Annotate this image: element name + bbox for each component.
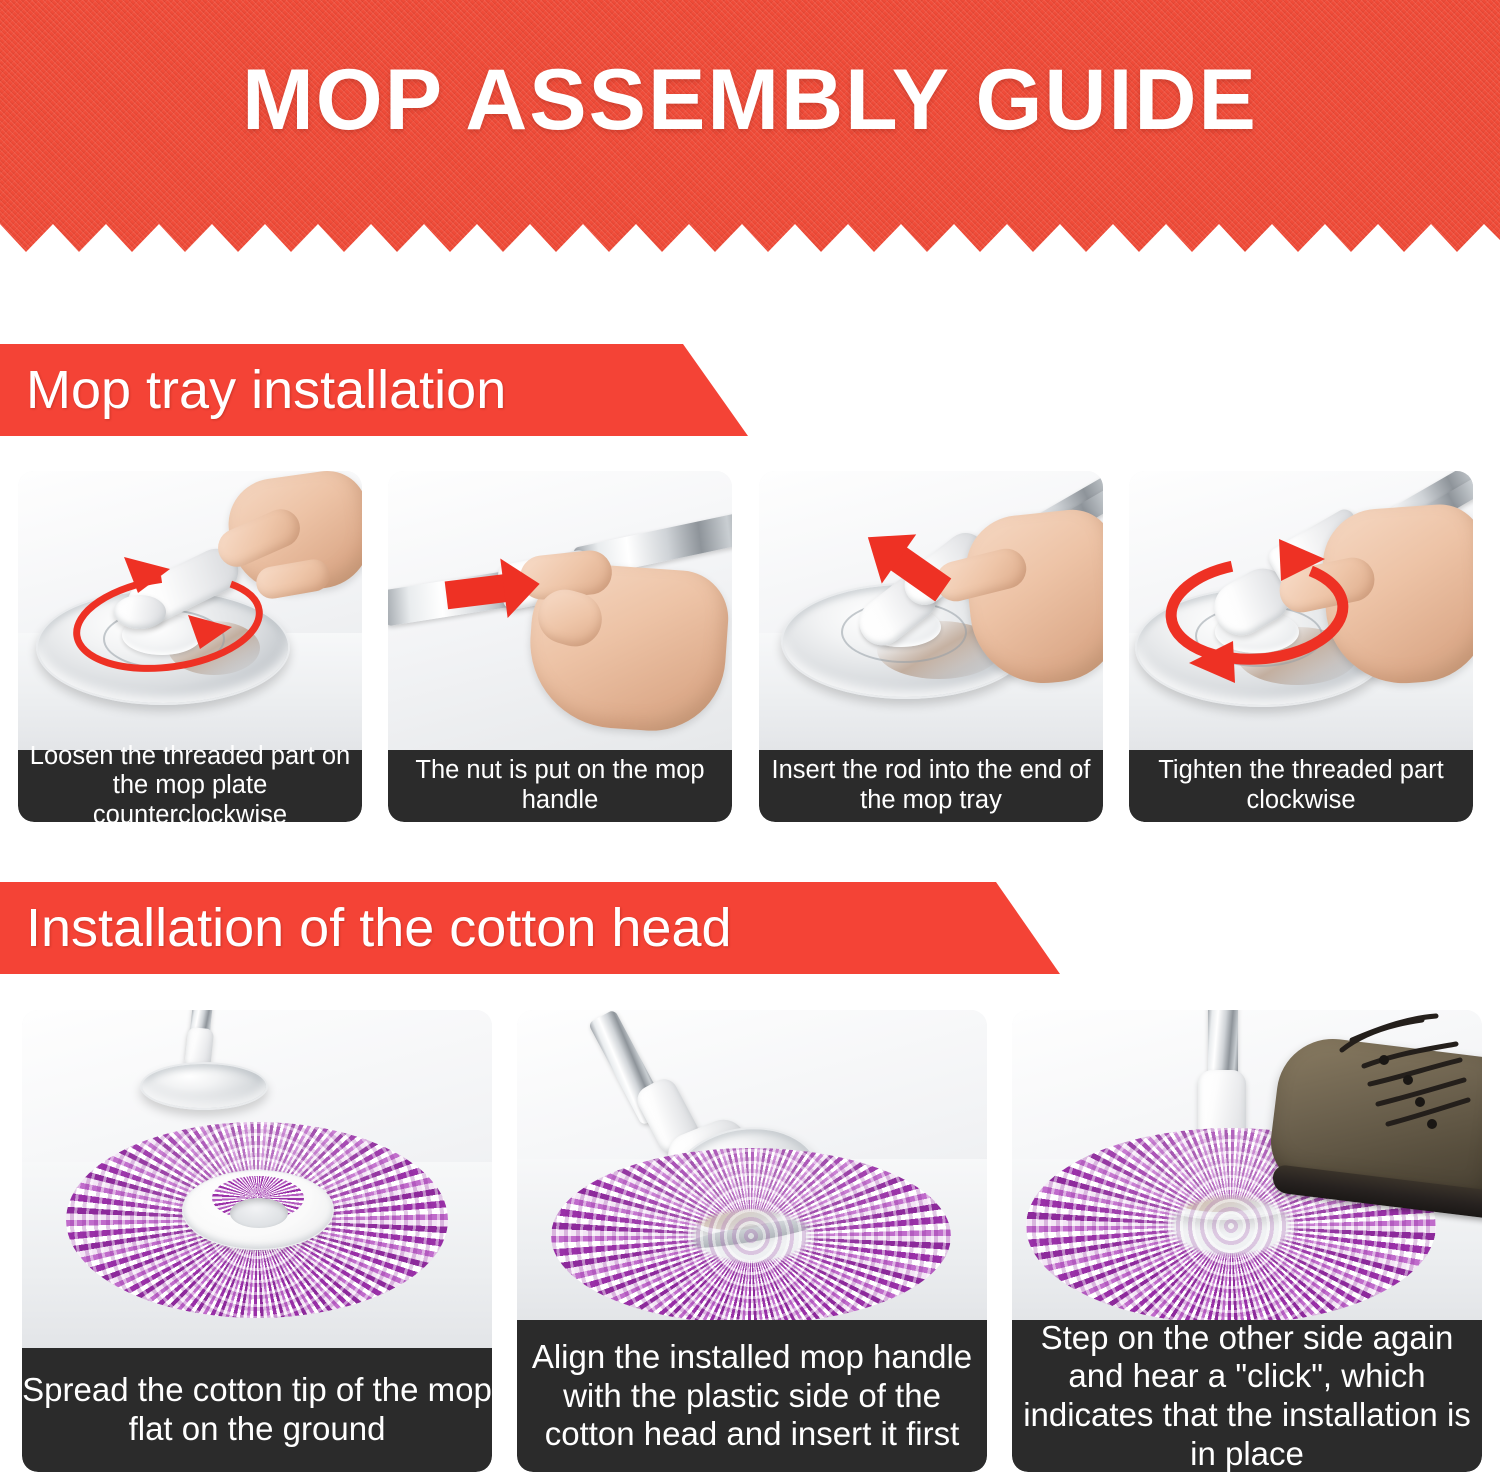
step-caption-7: Step on the other side again and hear a … xyxy=(1012,1320,1482,1472)
step-photo-6 xyxy=(517,1010,987,1320)
step-panel-2[interactable]: The nut is put on the mop handle xyxy=(388,471,732,822)
step-photo-2 xyxy=(388,471,732,750)
section-header-cotton-head-installation: Installation of the cotton head xyxy=(0,882,1062,974)
step-photo-3 xyxy=(759,471,1103,750)
section-title-1: Mop tray installation xyxy=(0,363,506,417)
header-banner: MOP ASSEMBLY GUIDE xyxy=(0,0,1500,252)
step-caption-6: Align the installed mop handle with the … xyxy=(517,1320,987,1472)
cotton-mop-head xyxy=(66,1122,448,1318)
page-title: MOP ASSEMBLY GUIDE xyxy=(0,0,1500,200)
step-caption-1: Loosen the threaded part on the mop plat… xyxy=(18,750,362,822)
rotation-arrow-clockwise-icon xyxy=(1129,471,1473,750)
boot-laces-icon xyxy=(1012,1010,1482,1320)
step-photo-5 xyxy=(22,1010,492,1348)
mop-fiber-texture xyxy=(551,1148,951,1320)
step-panel-4[interactable]: Tighten the threaded part clockwise xyxy=(1129,471,1473,822)
step-panel-3[interactable]: Insert the rod into the end of the mop t… xyxy=(759,471,1103,822)
insert-arrow-down-left-icon xyxy=(759,471,1103,750)
step-panel-6[interactable]: Align the installed mop handle with the … xyxy=(517,1010,987,1472)
section-title-2: Installation of the cotton head xyxy=(0,901,732,955)
section-header-mop-tray-installation: Mop tray installation xyxy=(0,344,750,436)
mop-plate-disc xyxy=(140,1062,268,1110)
mop-center-hole xyxy=(230,1198,288,1228)
step-caption-5: Spread the cotton tip of the mop flat on… xyxy=(22,1348,492,1472)
step-panel-1[interactable]: Loosen the threaded part on the mop plat… xyxy=(18,471,362,822)
step-caption-4: Tighten the threaded part clockwise xyxy=(1129,750,1473,822)
step-caption-3: Insert the rod into the end of the mop t… xyxy=(759,750,1103,822)
cotton-mop-head xyxy=(551,1148,951,1320)
push-arrow-right-icon xyxy=(388,471,732,750)
step-photo-7 xyxy=(1012,1010,1482,1320)
step-panel-5[interactable]: Spread the cotton tip of the mop flat on… xyxy=(22,1010,492,1472)
step-caption-2: The nut is put on the mop handle xyxy=(388,750,732,822)
step-photo-4 xyxy=(1129,471,1473,750)
step-photo-1 xyxy=(18,471,362,750)
rotation-arrow-counterclockwise-icon xyxy=(18,471,362,750)
step-panel-7[interactable]: Step on the other side again and hear a … xyxy=(1012,1010,1482,1472)
